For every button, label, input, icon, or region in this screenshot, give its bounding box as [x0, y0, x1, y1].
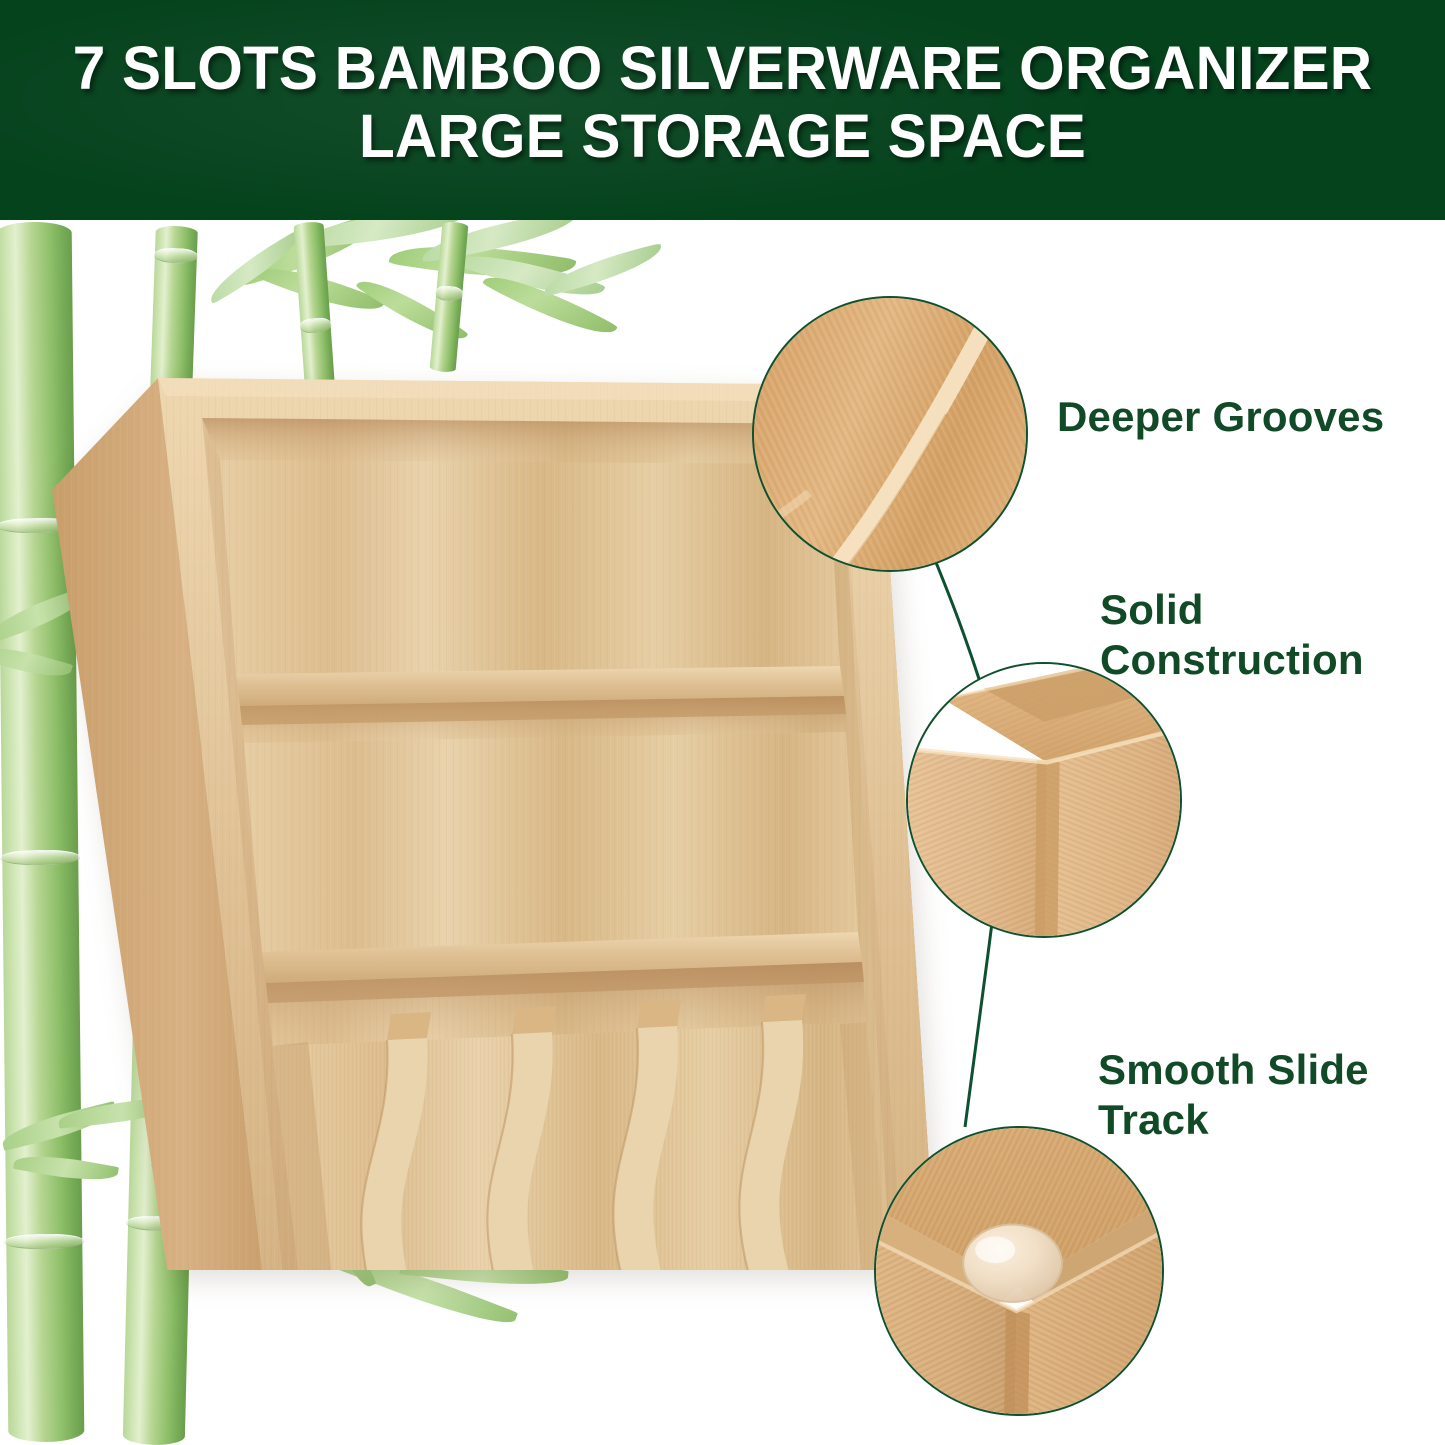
corner-edge-band	[1034, 759, 1059, 938]
callout-circle-smooth-slide-track	[874, 1126, 1164, 1416]
page-title: 7 SLOTS BAMBOO SILVERWARE ORGANIZER LARG…	[29, 34, 1416, 170]
callout-label-solid-construction: Solid Construction	[1100, 585, 1440, 685]
page-title-line-2: LARGE STORAGE SPACE	[29, 102, 1416, 170]
callout-label-smooth-slide-track: Smooth Slide Track	[1098, 1045, 1445, 1145]
bumper-specular-highlight	[975, 1236, 1015, 1263]
infographic-canvas: Deeper Grooves	[0, 0, 1445, 1445]
corner-vertical-edge	[1003, 1308, 1030, 1416]
callout-label-deeper-grooves: Deeper Grooves	[1057, 392, 1437, 442]
page-title-line-1: 7 SLOTS BAMBOO SILVERWARE ORGANIZER	[29, 34, 1416, 102]
rubber-bumper-pad	[963, 1224, 1062, 1301]
callout-circle-solid-construction	[906, 662, 1182, 938]
compartment-1-back-wall	[202, 418, 840, 464]
header-banner: 7 SLOTS BAMBOO SILVERWARE ORGANIZER LARG…	[0, 0, 1445, 220]
connector-line-2-to-3	[955, 905, 1075, 1140]
callout-circle-deeper-grooves	[752, 296, 1028, 572]
